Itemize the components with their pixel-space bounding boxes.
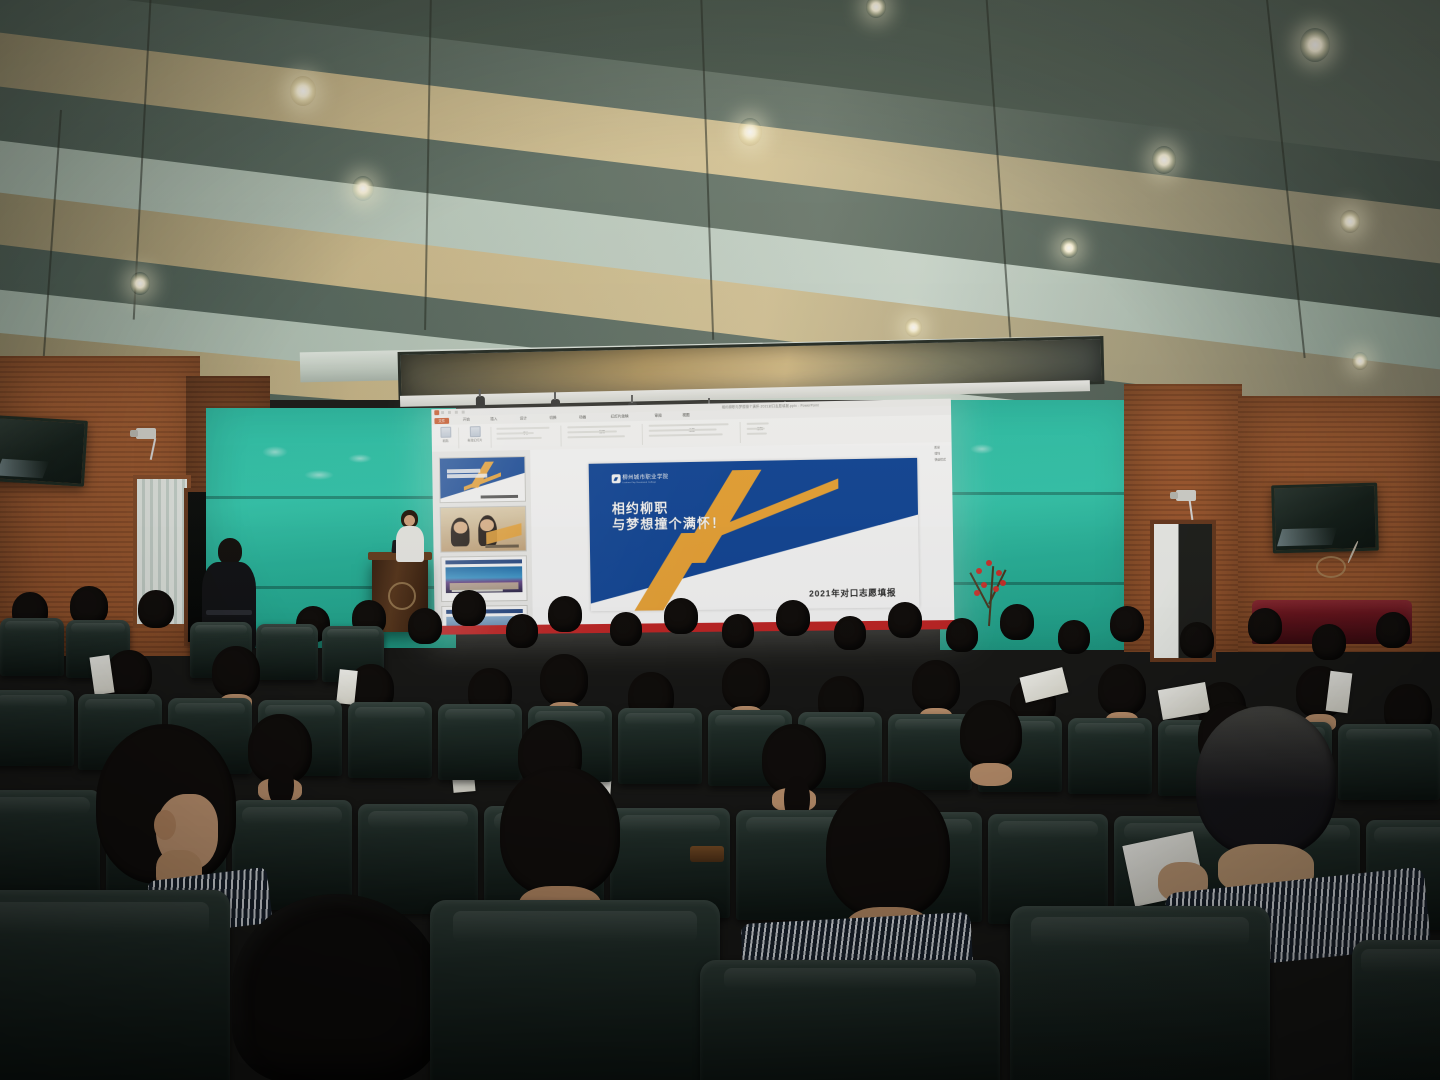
slide-headline-line2: 与梦想撞个满怀！ [612, 516, 726, 534]
audience-head [212, 646, 260, 698]
college-logo: 柳州城市职业学院 Liuzhou City Vocational College [611, 473, 668, 485]
audience-head [1110, 606, 1144, 642]
foreground-student-center [232, 894, 442, 1080]
ceiling-downlight [905, 318, 922, 337]
wall-emblem [1316, 556, 1346, 578]
tab-review[interactable]: 审阅 [654, 414, 661, 419]
auditorium-photo: 相约柳职与梦想撞个满怀-2021对口志愿填报.pptx - PowerPoint… [0, 0, 1440, 1080]
audience-head [888, 602, 922, 638]
seat [348, 702, 432, 778]
ribbon-right-pane[interactable]: 形状 排列 快速样式 [934, 445, 951, 463]
audience-head [1098, 664, 1146, 716]
audience-head [1312, 624, 1346, 660]
panel-seam [940, 492, 1130, 495]
ribbon-group-paste[interactable]: 粘贴 [436, 427, 454, 443]
ceiling-downlight [1340, 210, 1360, 233]
foreground-student-right [1196, 706, 1336, 856]
college-name-cn: 柳州城市职业学院 [622, 473, 668, 482]
audience-head [1058, 620, 1090, 654]
audience-head [540, 654, 588, 706]
presenter-face [404, 515, 415, 526]
security-camera [136, 428, 156, 439]
seat [1338, 724, 1440, 800]
tab-insert[interactable]: 插入 [490, 417, 497, 422]
audience-head [138, 590, 174, 628]
wall-tv-right [1271, 483, 1379, 554]
ceiling [0, 0, 1440, 400]
security-camera-right [1176, 490, 1196, 501]
ceiling-downlight [1152, 146, 1176, 174]
app-icon [434, 410, 439, 415]
tab-animations[interactable]: 动画 [579, 415, 586, 420]
wall-reflection [970, 444, 994, 454]
ceiling-downlight [352, 176, 374, 201]
right-pane-item[interactable]: 快速样式 [934, 457, 950, 461]
ceiling-downlight [130, 272, 150, 295]
audience-head [664, 598, 698, 634]
wall-tv-left [0, 415, 88, 486]
audience-head [946, 618, 978, 652]
ceiling-downlight [1060, 238, 1078, 258]
wall-reflection [304, 470, 334, 480]
ribbon-group-drawing[interactable]: 绘图 [649, 421, 735, 433]
presenter [395, 510, 425, 562]
tab-view[interactable]: 视图 [682, 413, 689, 418]
tv-screen-glare [1277, 528, 1337, 547]
presenter-body [396, 526, 424, 562]
handout-paper [336, 669, 357, 705]
tab-home[interactable]: 开始 [463, 417, 470, 422]
attendant-belt [206, 610, 252, 615]
seat-armrest [690, 846, 724, 862]
seat [618, 708, 702, 784]
tab-design[interactable]: 设计 [520, 416, 527, 421]
seat [1068, 718, 1152, 794]
seat [0, 690, 74, 766]
seat [0, 790, 100, 900]
seat-foreground [1010, 906, 1270, 1080]
wall-reflection [262, 446, 288, 458]
ribbon-group-label: 粘贴 [437, 439, 455, 443]
foreground-student-mid [500, 766, 620, 896]
audience-head [408, 608, 442, 644]
attendant-head [218, 538, 242, 565]
new-slide-icon [469, 426, 480, 437]
seat-foreground [700, 960, 1000, 1080]
slide-thumbnail[interactable]: 2 [440, 506, 527, 553]
podium-emblem [388, 582, 416, 610]
audience-head [1180, 622, 1214, 658]
audience-head [912, 660, 960, 712]
ceiling-downlight [290, 76, 316, 106]
college-crest-icon [611, 474, 620, 483]
audience-head [1248, 608, 1282, 644]
seat [256, 624, 318, 680]
slide-subtitle: 2021年对口志愿填报 [809, 586, 896, 599]
seat [0, 618, 64, 676]
audience-head [1000, 604, 1034, 640]
panel-seam [206, 496, 456, 499]
slide-headline: 相约柳职 与梦想撞个满怀！ [612, 500, 726, 533]
seat-foreground [430, 900, 720, 1080]
right-pane-item[interactable]: 形状 [934, 445, 950, 449]
ceiling-downlight [1300, 28, 1330, 62]
quick-access-toolbar[interactable] [441, 410, 468, 414]
ceiling-downlight [1352, 352, 1368, 370]
handout-paper [1020, 667, 1069, 703]
audience-head [960, 700, 1022, 768]
ribbon-group-paragraph[interactable]: 段落 [567, 423, 637, 434]
audience-head [722, 658, 770, 710]
audience-head [548, 596, 582, 632]
audience-head [452, 590, 486, 626]
ribbon-group-label: 新建幻灯片 [463, 438, 487, 442]
foreground-student-left [96, 724, 236, 884]
ribbon-group-editing[interactable]: 编辑 [747, 420, 773, 431]
right-pane-item[interactable]: 排列 [934, 451, 950, 455]
wall-reflection [348, 454, 372, 463]
audience-head [506, 614, 538, 648]
ribbon-group-new-slide[interactable]: 新建幻灯片 [463, 426, 487, 442]
audience-head [610, 612, 642, 646]
tab-slideshow[interactable]: 幻灯片放映 [611, 414, 629, 419]
ceiling-downlight [866, 0, 886, 18]
foreground-student-right-center [826, 782, 950, 918]
ribbon-group-font[interactable]: 字体 [496, 425, 555, 436]
audience-head [722, 614, 754, 648]
slide-thumbnail[interactable]: 1 [439, 456, 526, 503]
paste-icon [440, 427, 451, 438]
tv-screen-glare [0, 458, 50, 477]
audience-head [776, 600, 810, 636]
tab-transitions[interactable]: 切换 [549, 416, 556, 421]
seat-foreground [0, 890, 230, 1080]
tab-file[interactable]: 文件 [434, 417, 449, 423]
audience-head [1376, 612, 1410, 648]
audience-head [834, 616, 866, 650]
ceiling-downlight [738, 118, 762, 146]
current-slide[interactable]: 柳州城市职业学院 Liuzhou City Vocational College… [588, 458, 919, 611]
student-ear [154, 810, 176, 840]
seat-foreground [1352, 940, 1440, 1080]
